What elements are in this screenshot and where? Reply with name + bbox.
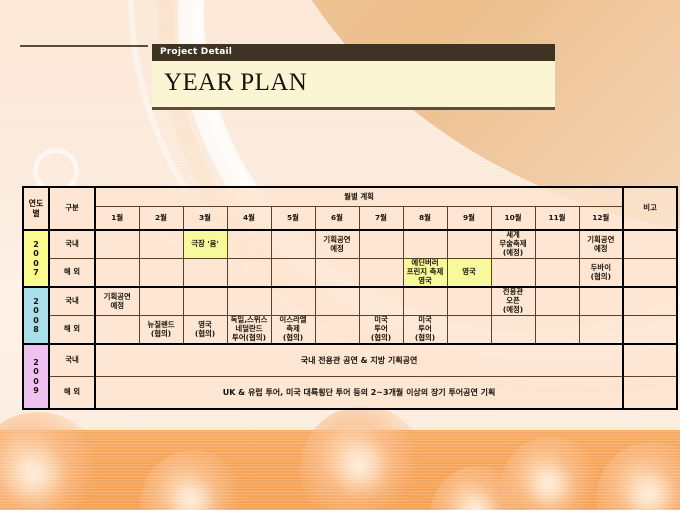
plan-cell-m2: 뉴질랜드(협의) [139, 316, 183, 345]
plan-cell-m6: 기획공연예정 [315, 230, 359, 259]
plan-cell-m4 [227, 230, 271, 259]
category-cell: 국내 [49, 230, 95, 259]
header-month-12: 12월 [579, 207, 623, 231]
plan-cell-m8: 에딘버러프린지 축제영국 [403, 259, 447, 288]
remark-cell [623, 259, 677, 288]
header-year-col: 연도별 [23, 187, 49, 230]
plan-cell-m5 [271, 259, 315, 288]
table-header-row-2: 1월2월3월4월5월6월7월8월9월10월11월12월 [23, 207, 677, 231]
page-title: YEAR PLAN [164, 69, 307, 96]
remark-cell [623, 344, 677, 377]
table-header-row-1: 연도별구분월별 계획비고 [23, 187, 677, 207]
plan-cell-m7 [359, 287, 403, 316]
plan-cell-m5 [271, 230, 315, 259]
plan-cell-m12 [579, 316, 623, 345]
remark-cell [623, 377, 677, 410]
category-cell: 국내 [49, 287, 95, 316]
header-month-9: 9월 [447, 207, 491, 231]
remark-cell [623, 287, 677, 316]
plan-cell-m12: 기획공연예정 [579, 230, 623, 259]
plan-cell-m2 [139, 287, 183, 316]
plan-cell-m7 [359, 230, 403, 259]
plan-cell-m10: 전용관오픈(예정) [491, 287, 535, 316]
table-row: 2008국내기획공연예정전용관오픈(예정) [23, 287, 677, 316]
plan-cell-m10: 세계무술축제(예정) [491, 230, 535, 259]
plan-cell-m3: 극장 '윰' [183, 230, 227, 259]
plan-cell-m5 [271, 287, 315, 316]
plan-cell-m6 [315, 316, 359, 345]
table-row: 해 외뉴질랜드(협의)영국(협의)독일,스위스네덜란드투어(협의)이스라엘축제(… [23, 316, 677, 345]
plan-cell-m9 [447, 230, 491, 259]
header-month-2: 2월 [139, 207, 183, 231]
table-row: 해 외UK & 유럽 투어, 미국 대륙횡단 투어 등의 2~3개월 이상의 장… [23, 377, 677, 410]
header-month-1: 1월 [95, 207, 139, 231]
plan-cell-m6 [315, 259, 359, 288]
plan-cell-m11 [535, 259, 579, 288]
plan-cell-m12 [579, 287, 623, 316]
year-span-cell: 국내 전용관 공연 & 지방 기획공연 [95, 344, 623, 377]
plan-cell-m5: 이스라엘축제(협의) [271, 316, 315, 345]
header-month-6: 6월 [315, 207, 359, 231]
plan-cell-m2 [139, 259, 183, 288]
year-span-cell: UK & 유럽 투어, 미국 대륙횡단 투어 등의 2~3개월 이상의 장기 투… [95, 377, 623, 410]
plan-cell-m3 [183, 259, 227, 288]
remark-cell [623, 230, 677, 259]
remark-cell [623, 316, 677, 345]
header-month-7: 7월 [359, 207, 403, 231]
title-block: Project Detail YEAR PLAN [152, 44, 555, 110]
category-cell: 해 외 [49, 259, 95, 288]
category-cell: 국내 [49, 344, 95, 377]
plan-cell-m1: 기획공연예정 [95, 287, 139, 316]
header-category-col: 구분 [49, 187, 95, 230]
plan-cell-m9 [447, 316, 491, 345]
plan-cell-m8: 미국투어(협의) [403, 316, 447, 345]
year-label-2008: 2008 [23, 287, 49, 344]
year-label-2007: 2007 [23, 230, 49, 287]
band-scanlines [0, 430, 680, 510]
plan-cell-m1 [95, 316, 139, 345]
plan-cell-m1 [95, 259, 139, 288]
plan-cell-m6 [315, 287, 359, 316]
plan-cell-m11 [535, 316, 579, 345]
plan-cell-m9: 영국 [447, 259, 491, 288]
header-month-3: 3월 [183, 207, 227, 231]
header-rule [20, 45, 148, 47]
year-label-2009: 2009 [23, 344, 49, 409]
year-plan-table: 연도별구분월별 계획비고1월2월3월4월5월6월7월8월9월10월11월12월2… [22, 186, 678, 410]
header-month-10: 10월 [491, 207, 535, 231]
plan-cell-m7 [359, 259, 403, 288]
plan-cell-m11 [535, 287, 579, 316]
project-detail-ribbon: Project Detail [152, 44, 555, 61]
header-remark-col: 비고 [623, 187, 677, 230]
plan-cell-m7: 미국투어(협의) [359, 316, 403, 345]
plan-cell-m10 [491, 259, 535, 288]
plan-cell-m8 [403, 287, 447, 316]
plan-cell-m3: 영국(협의) [183, 316, 227, 345]
plan-cell-m2 [139, 230, 183, 259]
plan-cell-m1 [95, 230, 139, 259]
header-month-8: 8월 [403, 207, 447, 231]
plan-cell-m8 [403, 230, 447, 259]
plan-cell-m9 [447, 287, 491, 316]
plan-cell-m10 [491, 316, 535, 345]
plan-cell-m4 [227, 287, 271, 316]
table-row: 2007국내극장 '윰'기획공연예정세계무술축제(예정)기획공연예정 [23, 230, 677, 259]
header-month-5: 5월 [271, 207, 315, 231]
plan-cell-m12: 두바이(협의) [579, 259, 623, 288]
rose-footer-band [0, 430, 680, 510]
header-month-4: 4월 [227, 207, 271, 231]
category-cell: 해 외 [49, 377, 95, 410]
header-monthly-plan: 월별 계획 [95, 187, 623, 207]
plan-cell-m11 [535, 230, 579, 259]
plan-cell-m4: 독일,스위스네덜란드투어(협의) [227, 316, 271, 345]
page-title-container: YEAR PLAN [152, 61, 555, 110]
table-row: 2009국내국내 전용관 공연 & 지방 기획공연 [23, 344, 677, 377]
header-month-11: 11월 [535, 207, 579, 231]
plan-cell-m4 [227, 259, 271, 288]
table-row: 해 외에딘버러프린지 축제영국영국두바이(협의) [23, 259, 677, 288]
category-cell: 해 외 [49, 316, 95, 345]
plan-cell-m3 [183, 287, 227, 316]
